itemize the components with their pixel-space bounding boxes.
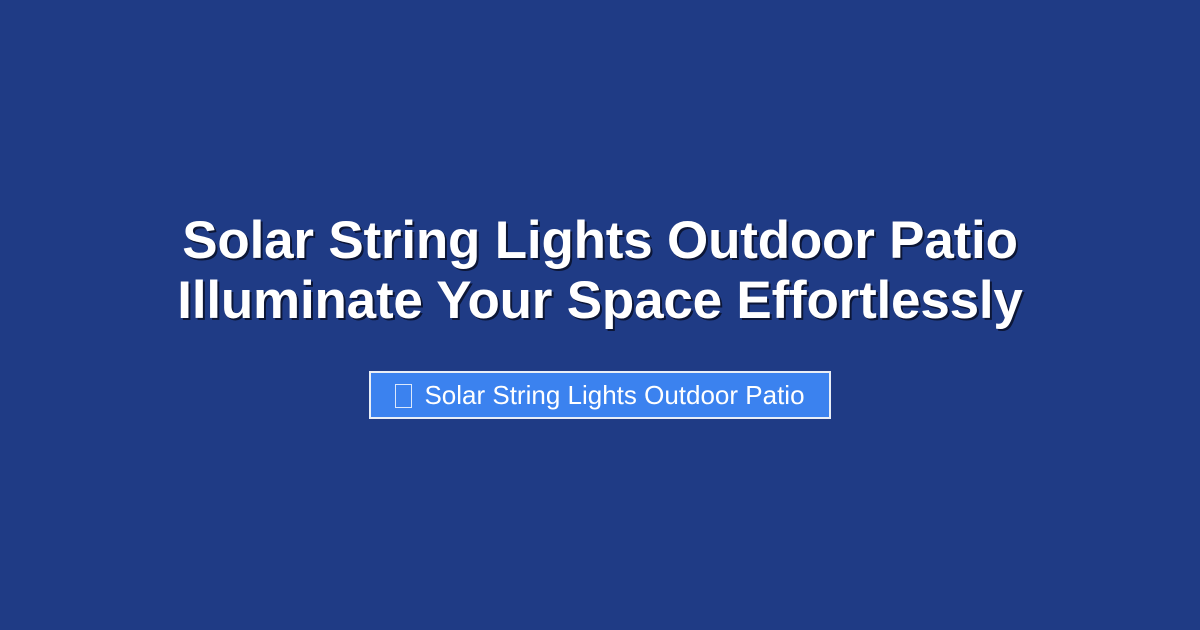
card-content-stack: Solar String Lights Outdoor Patio Illumi… (0, 0, 1200, 630)
social-preview-card: Solar String Lights Outdoor Patio Illumi… (0, 0, 1200, 630)
missing-glyph-box-icon (395, 384, 412, 408)
page-title: Solar String Lights Outdoor Patio Illumi… (0, 211, 1200, 331)
cta-container: Solar String Lights Outdoor Patio (0, 371, 1200, 419)
cta-button[interactable]: Solar String Lights Outdoor Patio (369, 371, 830, 419)
cta-button-label: Solar String Lights Outdoor Patio (424, 382, 804, 408)
